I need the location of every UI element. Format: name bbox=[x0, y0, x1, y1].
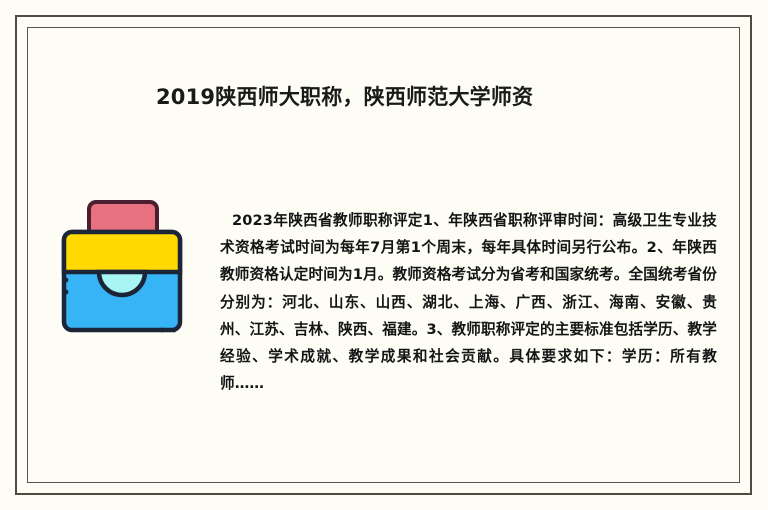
page-title: 2019陕西师大职称，陕西师范大学师资 bbox=[156, 76, 626, 118]
article-body: 2023年陕西省教师职称评定1、年陕西省职称评审时间：高级卫生专业技术资格考试时… bbox=[220, 207, 717, 397]
article-card: 2019陕西师大职称，陕西师范大学师资 2023年陕西省教师职称评定1、年陕西省… bbox=[0, 0, 768, 510]
briefcase-icon bbox=[60, 196, 184, 336]
